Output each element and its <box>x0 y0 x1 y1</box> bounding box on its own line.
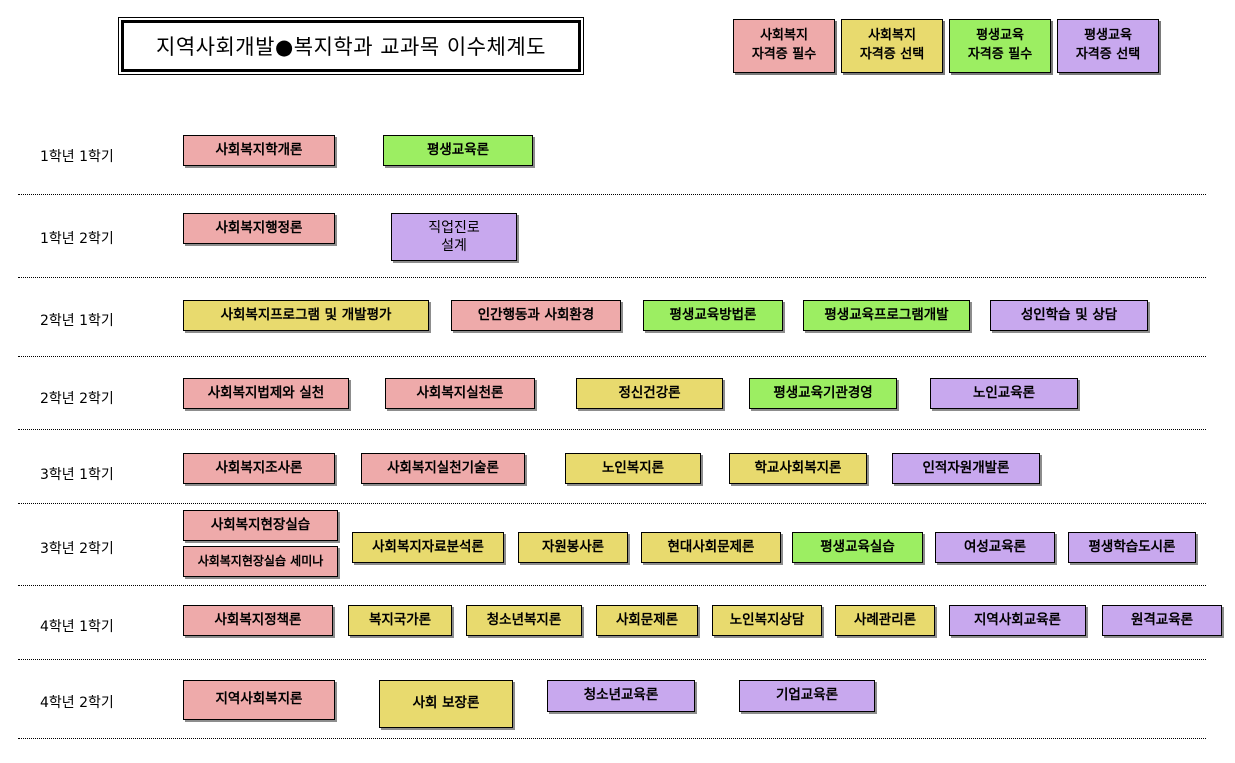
course-box[interactable]: 사회복지현장실습 세미나 <box>183 546 338 577</box>
course-name: 사회복지현장실습 세미나 <box>198 554 324 570</box>
legend: 사회복지자격증 필수사회복지자격증 선택평생교육자격증 필수평생교육자격증 선택 <box>733 19 1159 73</box>
course-name: 사회복지실천기술론 <box>387 460 499 478</box>
course-name: 정신건강론 <box>618 385 680 403</box>
course-name-line2: 설계 <box>441 237 467 255</box>
legend-item-line2: 자격증 필수 <box>968 46 1032 65</box>
legend-item-lll-required: 평생교육자격증 필수 <box>949 19 1051 73</box>
course-name: 사회복지행정론 <box>216 220 303 238</box>
semester-label: 3학년 2학기 <box>40 538 170 558</box>
course-box[interactable]: 평생교육론 <box>383 135 533 166</box>
legend-item-line1: 평생교육 <box>1084 27 1132 46</box>
legend-item-line2: 자격증 선택 <box>1076 46 1140 65</box>
course-box[interactable]: 기업교육론 <box>739 680 875 712</box>
course-name: 복지국가론 <box>369 612 431 630</box>
row-divider <box>18 738 1206 739</box>
course-box[interactable]: 원격교육론 <box>1102 605 1222 636</box>
course-name: 기업교육론 <box>776 687 838 705</box>
course-name: 평생교육론 <box>427 142 489 160</box>
course-box[interactable]: 복지국가론 <box>348 605 452 636</box>
course-name: 학교사회복지론 <box>755 460 842 478</box>
course-box[interactable]: 사례관리론 <box>835 605 935 636</box>
course-box-group: 사회복지행정론직업진로설계 <box>183 213 517 261</box>
legend-item-line2: 자격증 선택 <box>860 46 924 65</box>
course-box[interactable]: 평생교육실습 <box>792 532 923 563</box>
course-box-group: 사회복지학개론평생교육론 <box>183 135 533 166</box>
row-divider <box>18 585 1206 586</box>
course-box[interactable]: 사회복지법제와 실천 <box>183 378 349 409</box>
course-name: 노인복지상담 <box>730 612 805 630</box>
course-box[interactable]: 현대사회문제론 <box>641 532 781 563</box>
course-box-group: 지역사회복지론사회 보장론청소년교육론기업교육론 <box>183 680 875 728</box>
row-divider <box>18 659 1206 660</box>
course-name: 사회 보장론 <box>413 695 480 713</box>
course-box[interactable]: 노인복지상담 <box>712 605 822 636</box>
page-title-inner-border: 지역사회개발●복지학과 교과목 이수체계도 <box>121 20 581 72</box>
row-divider <box>18 277 1206 278</box>
course-box-group: 사회복지정책론복지국가론청소년복지론사회문제론노인복지상담사례관리론지역사회교육… <box>183 605 1222 636</box>
course-name: 청소년복지론 <box>487 612 562 630</box>
legend-item-line1: 평생교육 <box>976 27 1024 46</box>
course-name: 사회문제론 <box>616 612 678 630</box>
legend-item-line1: 사회복지 <box>760 27 808 46</box>
course-box[interactable]: 여성교육론 <box>935 532 1055 563</box>
course-name: 평생교육기관경영 <box>773 385 872 403</box>
course-box[interactable]: 성인학습 및 상담 <box>990 300 1148 331</box>
course-name-line1: 직업진로 <box>428 219 480 237</box>
row-divider <box>18 503 1206 504</box>
course-name: 사회복지법제와 실천 <box>208 385 324 403</box>
course-name: 노인복지론 <box>602 460 664 478</box>
course-box[interactable]: 사회복지행정론 <box>183 213 335 244</box>
row-divider <box>18 194 1206 195</box>
course-box[interactable]: 정신건강론 <box>576 378 723 409</box>
page-title-box: 지역사회개발●복지학과 교과목 이수체계도 <box>118 17 584 75</box>
course-name: 지역사회복지론 <box>216 691 303 709</box>
course-box[interactable]: 평생교육프로그램개발 <box>803 300 970 331</box>
course-box[interactable]: 인적자원개발론 <box>892 453 1040 484</box>
legend-item-lll-elective: 평생교육자격증 선택 <box>1057 19 1159 73</box>
page-title: 지역사회개발●복지학과 교과목 이수체계도 <box>156 31 546 61</box>
course-box[interactable]: 사회복지프로그램 및 개발평가 <box>183 300 429 331</box>
course-name: 사회복지정책론 <box>215 612 302 630</box>
semester-label: 2학년 2학기 <box>40 388 170 408</box>
course-box[interactable]: 노인복지론 <box>565 453 701 484</box>
course-box-group: 사회복지조사론사회복지실천기술론노인복지론학교사회복지론인적자원개발론 <box>183 453 1040 484</box>
course-box[interactable]: 인간행동과 사회환경 <box>451 300 621 331</box>
course-box-group: 사회복지프로그램 및 개발평가인간행동과 사회환경평생교육방법론평생교육프로그램… <box>183 300 1148 331</box>
course-name: 자원봉사론 <box>542 539 604 557</box>
course-name: 여성교육론 <box>964 539 1026 557</box>
course-name: 인간행동과 사회환경 <box>478 307 594 325</box>
course-name: 사회복지현장실습 <box>211 517 310 535</box>
course-box[interactable]: 사회복지실천론 <box>385 378 535 409</box>
course-box[interactable]: 학교사회복지론 <box>729 453 867 484</box>
course-name: 노인교육론 <box>973 385 1035 403</box>
course-box[interactable]: 사회복지현장실습 <box>183 510 338 541</box>
course-box[interactable]: 노인교육론 <box>930 378 1078 409</box>
course-box-group: 사회복지법제와 실천사회복지실천론정신건강론평생교육기관경영노인교육론 <box>183 378 1078 409</box>
course-name: 지역사회교육론 <box>974 612 1061 630</box>
semester-label: 4학년 1학기 <box>40 616 170 636</box>
course-name: 사회복지프로그램 및 개발평가 <box>221 307 392 325</box>
course-box[interactable]: 직업진로설계 <box>391 213 517 261</box>
legend-item-sw-elective: 사회복지자격증 선택 <box>841 19 943 73</box>
course-box[interactable]: 청소년교육론 <box>547 680 695 712</box>
course-box-group: 사회복지현장실습사회복지현장실습 세미나사회복지자료분석론자원봉사론현대사회문제… <box>183 510 1196 577</box>
course-box[interactable]: 사회복지자료분석론 <box>352 532 504 563</box>
course-box[interactable]: 사회 보장론 <box>379 680 513 728</box>
course-name: 성인학습 및 상담 <box>1021 307 1117 325</box>
course-name: 평생교육프로그램개발 <box>824 307 948 325</box>
course-box[interactable]: 평생학습도시론 <box>1068 532 1196 563</box>
course-box[interactable]: 사회복지실천기술론 <box>361 453 525 484</box>
course-box[interactable]: 평생교육방법론 <box>643 300 783 331</box>
semester-label: 3학년 1학기 <box>40 464 170 484</box>
course-name: 평생교육실습 <box>820 539 895 557</box>
course-box[interactable]: 지역사회교육론 <box>949 605 1086 636</box>
course-box[interactable]: 사회복지정책론 <box>183 605 333 636</box>
curriculum-roadmap-page: 지역사회개발●복지학과 교과목 이수체계도 사회복지자격증 필수사회복지자격증 … <box>0 0 1235 763</box>
stacked-course-group: 사회복지현장실습사회복지현장실습 세미나 <box>183 510 338 577</box>
course-name: 현대사회문제론 <box>668 539 755 557</box>
course-box[interactable]: 청소년복지론 <box>466 605 582 636</box>
course-name: 사회복지학개론 <box>216 142 303 160</box>
course-name: 사회복지자료분석론 <box>372 539 484 557</box>
course-name: 인적자원개발론 <box>923 460 1010 478</box>
semester-label: 1학년 1학기 <box>40 146 170 166</box>
course-name: 평생교육방법론 <box>670 307 757 325</box>
course-name: 사회복지실천론 <box>417 385 504 403</box>
semester-label: 2학년 1학기 <box>40 310 170 330</box>
course-name: 사례관리론 <box>854 612 916 630</box>
course-name: 사회복지조사론 <box>216 460 303 478</box>
course-name: 원격교육론 <box>1131 612 1193 630</box>
course-name: 청소년교육론 <box>584 687 659 705</box>
row-divider <box>18 429 1206 430</box>
course-name: 평생학습도시론 <box>1089 539 1176 557</box>
course-box[interactable]: 지역사회복지론 <box>183 680 335 720</box>
semester-label: 4학년 2학기 <box>40 692 170 712</box>
course-box[interactable]: 사회복지조사론 <box>183 453 335 484</box>
course-box[interactable]: 자원봉사론 <box>518 532 628 563</box>
legend-item-line2: 자격증 필수 <box>752 46 816 65</box>
semester-label: 1학년 2학기 <box>40 228 170 248</box>
course-box[interactable]: 사회복지학개론 <box>183 135 335 166</box>
course-box[interactable]: 사회문제론 <box>596 605 698 636</box>
legend-item-sw-required: 사회복지자격증 필수 <box>733 19 835 73</box>
legend-item-line1: 사회복지 <box>868 27 916 46</box>
course-box[interactable]: 평생교육기관경영 <box>749 378 897 409</box>
row-divider <box>18 356 1206 357</box>
